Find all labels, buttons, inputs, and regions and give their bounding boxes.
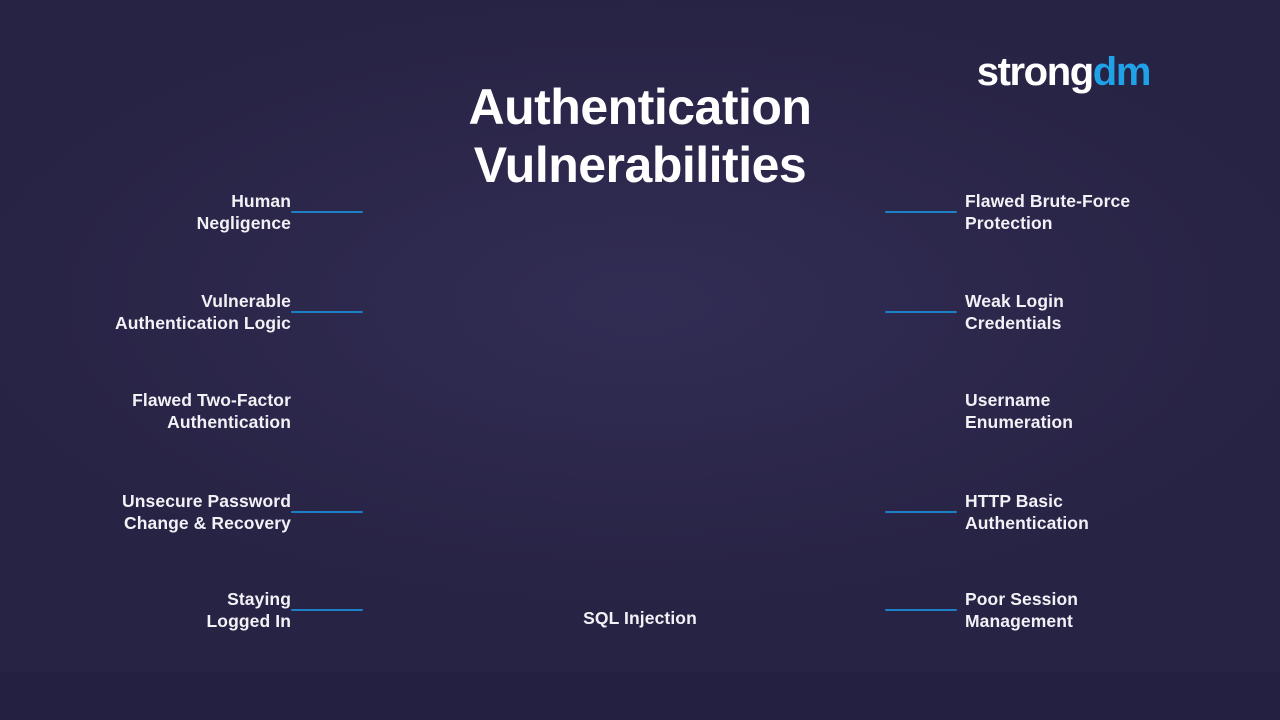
vuln-item-username-enumeration[interactable]: Username Enumeration xyxy=(885,389,1073,433)
vuln-label: Weak Login Credentials xyxy=(965,290,1064,334)
logo-text-strong: strong xyxy=(977,50,1093,94)
background-bottom-band xyxy=(0,672,1280,720)
strongdm-logo: strongdm xyxy=(977,52,1150,92)
connector-line xyxy=(885,311,957,313)
page-title: Authentication Vulnerabilities xyxy=(0,78,1280,194)
vuln-label: Flawed Brute-Force Protection xyxy=(965,190,1130,234)
connector-line xyxy=(291,311,363,313)
vuln-item-vulnerable-authentication-logic[interactable]: Vulnerable Authentication Logic xyxy=(115,290,363,334)
connector-line xyxy=(885,211,957,213)
vuln-item-http-basic-authentication[interactable]: HTTP Basic Authentication xyxy=(885,490,1089,534)
vuln-item-weak-login-credentials[interactable]: Weak Login Credentials xyxy=(885,290,1064,334)
connector-line xyxy=(291,511,363,513)
vuln-label: HTTP Basic Authentication xyxy=(965,490,1089,534)
vuln-item-sql-injection[interactable]: SQL Injection xyxy=(0,607,1280,629)
vuln-item-human-negligence[interactable]: Human Negligence xyxy=(197,190,363,234)
vuln-item-flawed-two-factor-authentication[interactable]: Flawed Two-Factor Authentication xyxy=(132,389,363,433)
vuln-label: Username Enumeration xyxy=(965,389,1073,433)
page-title-line-2: Vulnerabilities xyxy=(0,136,1280,194)
logo-text-dm: dm xyxy=(1093,50,1150,94)
vuln-label: Flawed Two-Factor Authentication xyxy=(132,389,291,433)
slide-canvas: strongdm Authentication Vulnerabilities … xyxy=(0,0,1280,720)
vuln-label: Unsecure Password Change & Recovery xyxy=(122,490,291,534)
connector-line xyxy=(885,511,957,513)
vuln-item-unsecure-password-change-recovery[interactable]: Unsecure Password Change & Recovery xyxy=(122,490,363,534)
vuln-label: Vulnerable Authentication Logic xyxy=(115,290,291,334)
connector-line xyxy=(291,211,363,213)
vuln-label: Human Negligence xyxy=(197,190,291,234)
vuln-item-flawed-brute-force-protection[interactable]: Flawed Brute-Force Protection xyxy=(885,190,1130,234)
vuln-label: SQL Injection xyxy=(583,607,697,629)
